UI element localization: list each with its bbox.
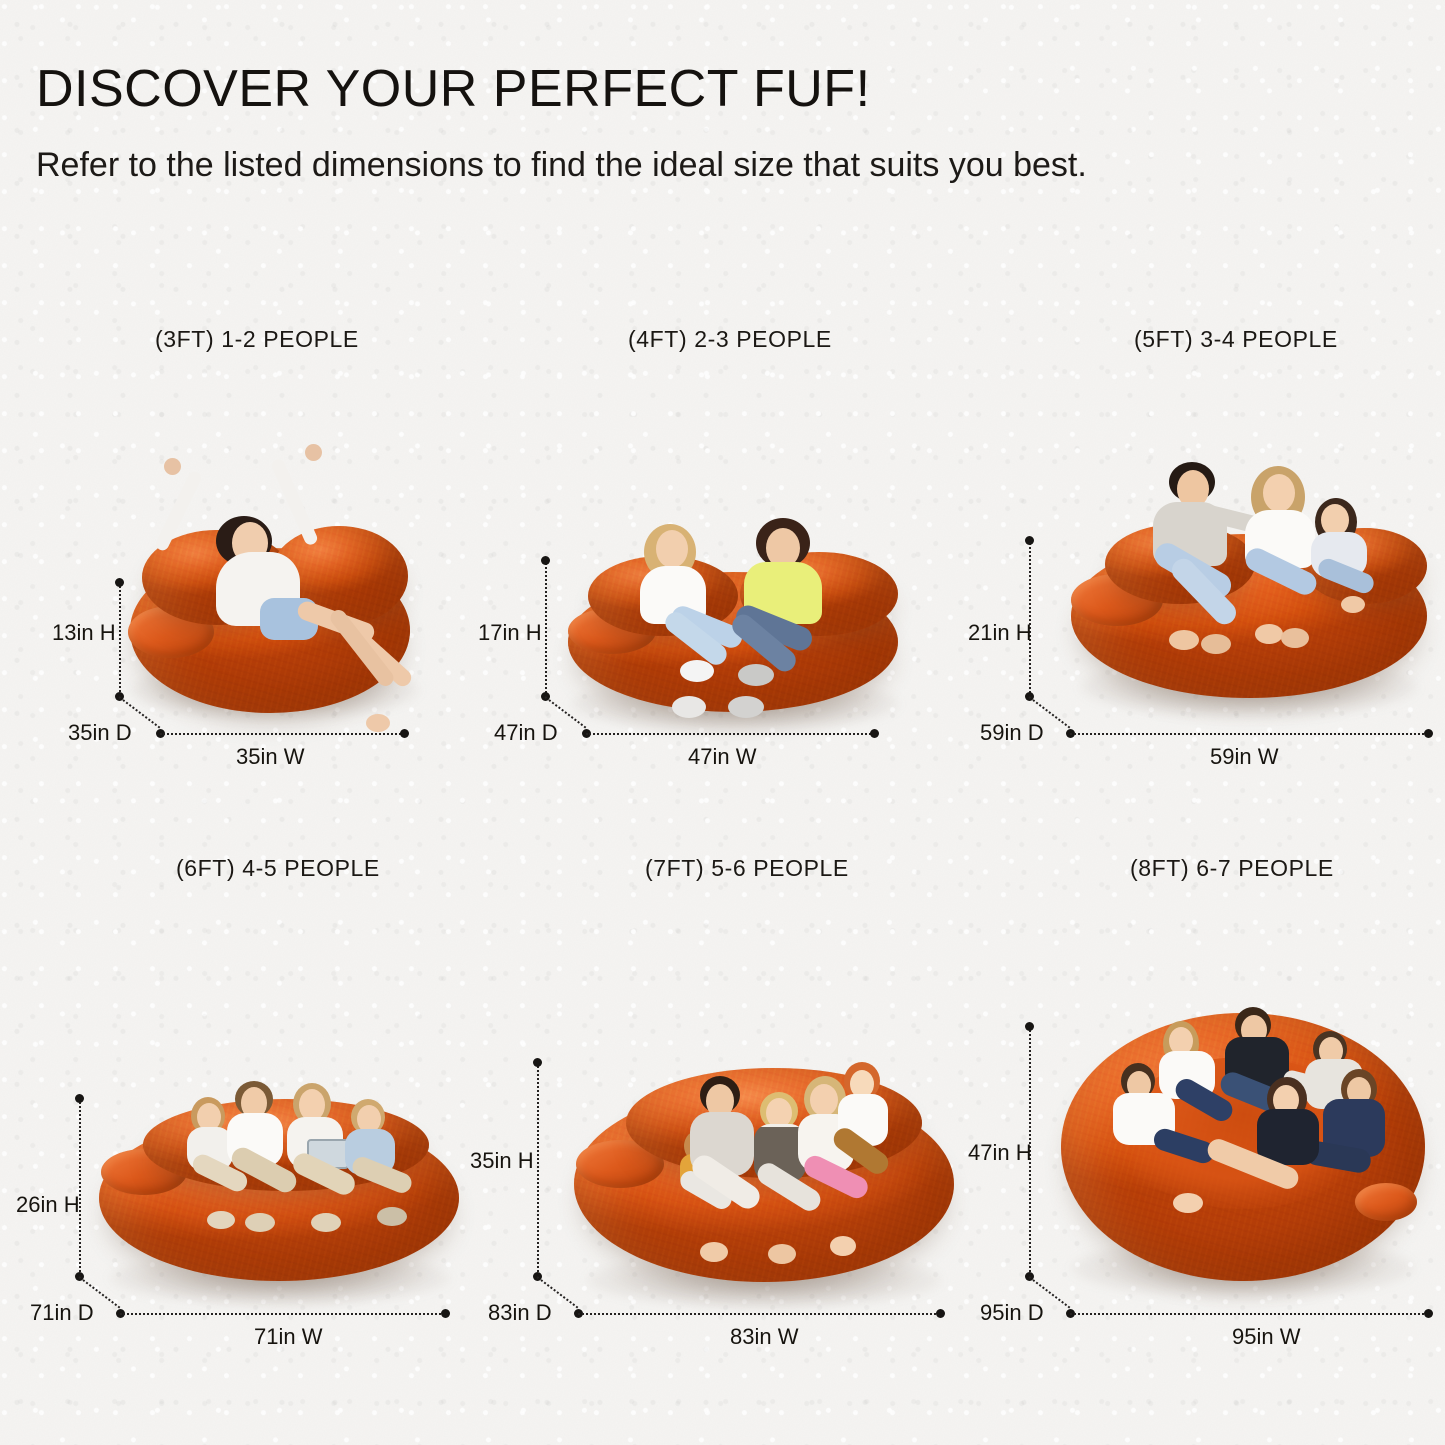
- width-label-7ft: 83in W: [730, 1324, 798, 1350]
- page-title: DISCOVER YOUR PERFECT FUF!: [36, 62, 1286, 117]
- width-line-8ft: [1070, 1313, 1428, 1315]
- height-top-dot: [1025, 1022, 1034, 1031]
- product-label-8ft: (8FT) 6-7 PEOPLE: [1130, 855, 1334, 882]
- height-top-dot: [541, 556, 550, 565]
- height-label-5ft: 21in H: [968, 620, 1032, 646]
- page-subtitle: Refer to the listed dimensions to find t…: [36, 141, 1196, 189]
- height-line-4ft: [545, 560, 547, 696]
- product-label-5ft: (5FT) 3-4 PEOPLE: [1134, 326, 1338, 353]
- product-photo-5ft: [1065, 448, 1435, 738]
- width-label-3ft: 35in W: [236, 744, 304, 770]
- product-photo-3ft: [120, 430, 440, 760]
- height-top-dot: [75, 1094, 84, 1103]
- foot: [830, 1236, 856, 1256]
- product-photo-7ft: [572, 1030, 956, 1310]
- width-end-dot: [400, 729, 409, 738]
- product-label-7ft: (7FT) 5-6 PEOPLE: [645, 855, 849, 882]
- height-label-8ft: 47in H: [968, 1140, 1032, 1166]
- width-label-4ft: 47in W: [688, 744, 756, 770]
- height-label-6ft: 26in H: [16, 1192, 80, 1218]
- shoe: [207, 1211, 235, 1229]
- width-line-7ft: [578, 1313, 940, 1315]
- foot: [700, 1242, 728, 1262]
- foot: [1173, 1193, 1203, 1213]
- shoe: [680, 660, 714, 682]
- foot: [366, 714, 390, 732]
- height-line-6ft: [79, 1098, 81, 1276]
- width-line-6ft: [120, 1313, 445, 1315]
- height-top-dot: [533, 1058, 542, 1067]
- width-label-5ft: 59in W: [1210, 744, 1278, 770]
- shoe-2: [672, 696, 706, 718]
- header: DISCOVER YOUR PERFECT FUF! Refer to the …: [36, 62, 1286, 189]
- shoe: [245, 1213, 275, 1232]
- width-line-5ft: [1070, 733, 1428, 735]
- head: [656, 530, 688, 568]
- depth-label-6ft: 71in D: [30, 1300, 94, 1326]
- height-top-dot: [1025, 536, 1034, 545]
- shoe-2: [728, 696, 764, 718]
- width-end-dot: [1424, 1309, 1433, 1318]
- product-photo-6ft: [95, 1055, 465, 1305]
- arm-right: [270, 457, 319, 546]
- depth-label-7ft: 83in D: [488, 1300, 552, 1326]
- shoe: [311, 1213, 341, 1232]
- product-photo-8ft: [1055, 985, 1430, 1305]
- head: [1263, 474, 1295, 512]
- product-label-6ft: (6FT) 4-5 PEOPLE: [176, 855, 380, 882]
- height-line-5ft: [1029, 540, 1031, 696]
- width-end-dot: [1424, 729, 1433, 738]
- foot: [1255, 624, 1283, 644]
- depth-label-5ft: 59in D: [980, 720, 1044, 746]
- foot-2: [1201, 634, 1231, 654]
- shoe: [738, 664, 774, 686]
- foot: [1341, 596, 1365, 613]
- foot: [768, 1244, 796, 1264]
- height-label-3ft: 13in H: [52, 620, 116, 646]
- head: [810, 1084, 838, 1116]
- width-label-8ft: 95in W: [1232, 1324, 1300, 1350]
- width-line-3ft: [160, 733, 404, 735]
- width-label-6ft: 71in W: [254, 1324, 322, 1350]
- height-top-dot: [115, 578, 124, 587]
- product-label-3ft: (3FT) 1-2 PEOPLE: [155, 326, 359, 353]
- depth-label-3ft: 35in D: [68, 720, 132, 746]
- shoe: [377, 1207, 407, 1226]
- height-line-3ft: [119, 582, 121, 696]
- width-end-dot: [441, 1309, 450, 1318]
- product-label-4ft: (4FT) 2-3 PEOPLE: [628, 326, 832, 353]
- hand-left: [164, 458, 181, 475]
- height-label-4ft: 17in H: [478, 620, 542, 646]
- width-end-dot: [936, 1309, 945, 1318]
- width-end-dot: [870, 729, 879, 738]
- hand-right: [305, 444, 322, 461]
- depth-label-4ft: 47in D: [494, 720, 558, 746]
- foot-2: [1281, 628, 1309, 648]
- width-line-4ft: [586, 733, 874, 735]
- foot: [1169, 630, 1199, 650]
- product-photo-4ft: [560, 500, 920, 760]
- depth-label-8ft: 95in D: [980, 1300, 1044, 1326]
- height-label-7ft: 35in H: [470, 1148, 534, 1174]
- bag-side-flap: [1355, 1183, 1417, 1221]
- height-line-7ft: [537, 1062, 539, 1276]
